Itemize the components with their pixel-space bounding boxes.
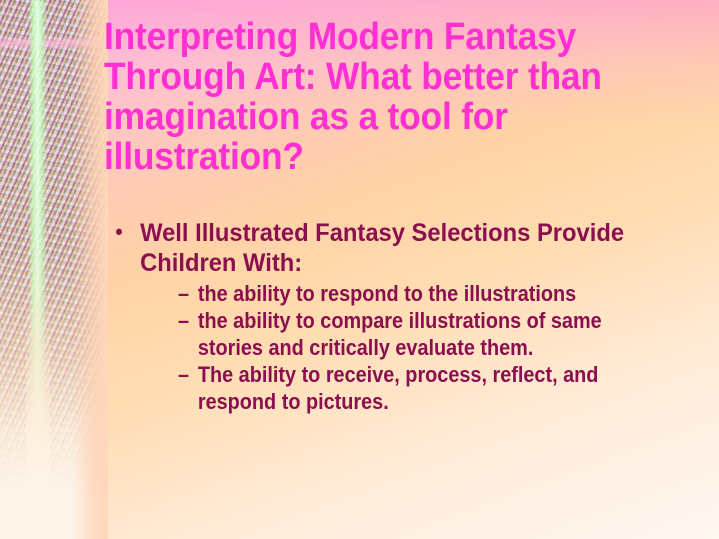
list-item: The ability to receive, process, reflect…	[140, 361, 656, 415]
bullet-list-level2: the ability to respond to the illustrati…	[140, 280, 683, 415]
slide-canvas: Interpreting Modern Fantasy Through Art:…	[0, 0, 719, 539]
slide-body: Well Illustrated Fantasy Selections Prov…	[104, 218, 714, 417]
decorative-band-edge	[72, 0, 108, 539]
bullet-text: Well Illustrated Fantasy Selections Prov…	[140, 219, 624, 277]
list-item: the ability to compare illustrations of …	[140, 307, 656, 361]
decorative-side-band	[0, 0, 108, 539]
slide-title: Interpreting Modern Fantasy Through Art:…	[104, 17, 666, 177]
list-item: Well Illustrated Fantasy Selections Prov…	[104, 218, 684, 415]
list-item: the ability to respond to the illustrati…	[140, 280, 656, 307]
bullet-list-level1: Well Illustrated Fantasy Selections Prov…	[104, 218, 714, 415]
